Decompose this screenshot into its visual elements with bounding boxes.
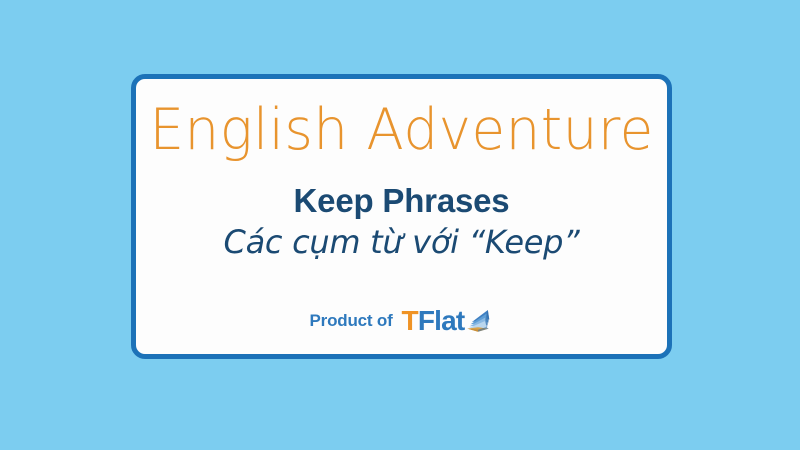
lesson-heading: Keep Phrases — [294, 183, 510, 219]
tflat-wordmark: TFlat — [402, 307, 465, 335]
page-title: English Adventure — [149, 101, 653, 161]
title-card: English Adventure Keep Phrases Các cụm t… — [131, 74, 672, 359]
tflat-initial: T — [402, 305, 418, 336]
slide-canvas: English Adventure Keep Phrases Các cụm t… — [0, 0, 800, 450]
tflat-name: Flat — [418, 305, 465, 336]
product-of-label: Product of — [310, 311, 393, 331]
brand-footer: Product of TFlat — [136, 305, 667, 337]
tflat-logo: TFlat — [402, 305, 494, 337]
lesson-subheading-vietnamese: Các cụm từ với “Keep” — [224, 225, 580, 260]
open-book-icon — [465, 305, 493, 337]
